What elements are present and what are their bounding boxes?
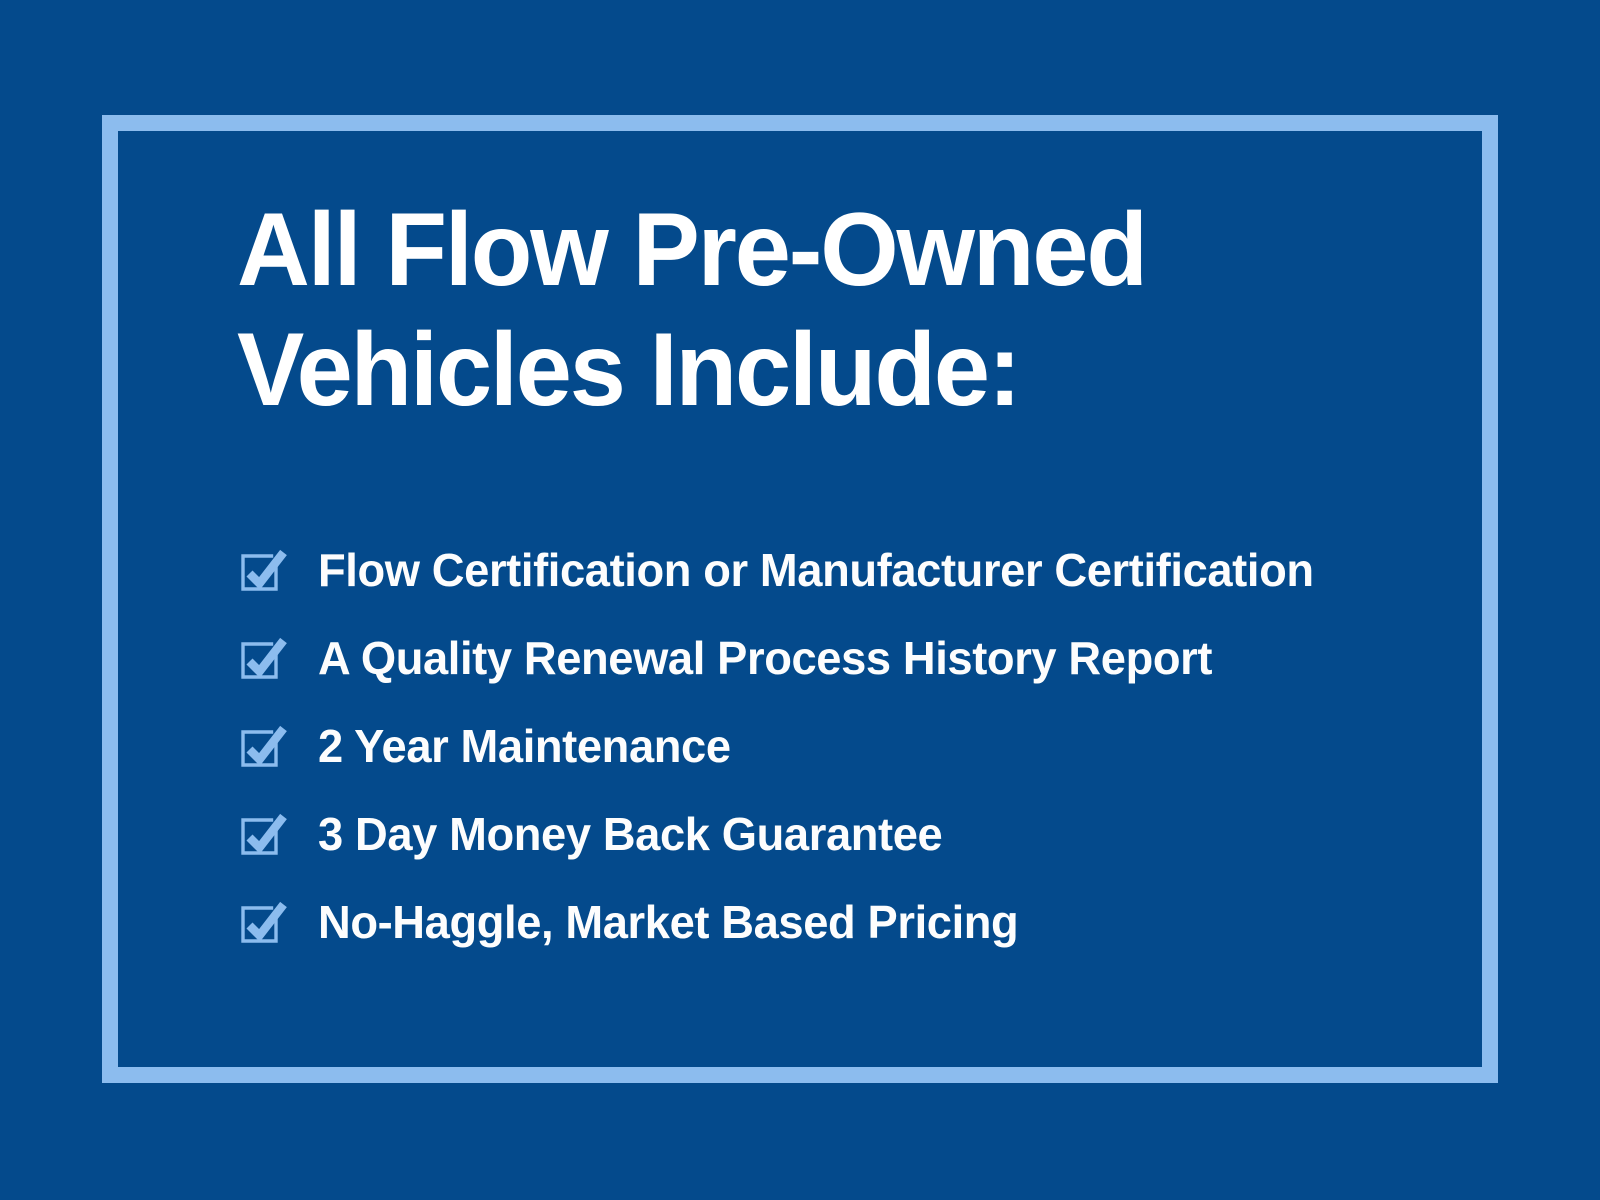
benefit-list: Flow Certification or Manufacturer Certi…	[238, 526, 1468, 966]
page-title: All Flow Pre-Owned Vehicles Include:	[237, 190, 1430, 430]
list-item: A Quality Renewal Process History Report	[238, 614, 1468, 702]
checked-checkbox-icon	[238, 722, 290, 770]
benefit-label: 3 Day Money Back Guarantee	[318, 810, 942, 858]
card-content: All Flow Pre-Owned Vehicles Include: Flo…	[237, 190, 1467, 430]
checked-checkbox-icon	[238, 634, 290, 682]
benefit-label: 2 Year Maintenance	[318, 722, 731, 770]
checked-checkbox-icon	[238, 898, 290, 946]
checked-checkbox-icon	[238, 810, 290, 858]
list-item: No-Haggle, Market Based Pricing	[238, 878, 1468, 966]
benefit-label: Flow Certification or Manufacturer Certi…	[318, 546, 1314, 594]
promo-card: All Flow Pre-Owned Vehicles Include: Flo…	[0, 0, 1600, 1200]
benefit-label: No-Haggle, Market Based Pricing	[318, 898, 1018, 946]
checked-checkbox-icon	[238, 546, 290, 594]
benefit-label: A Quality Renewal Process History Report	[318, 634, 1212, 682]
list-item: Flow Certification or Manufacturer Certi…	[238, 526, 1468, 614]
list-item: 2 Year Maintenance	[238, 702, 1468, 790]
list-item: 3 Day Money Back Guarantee	[238, 790, 1468, 878]
